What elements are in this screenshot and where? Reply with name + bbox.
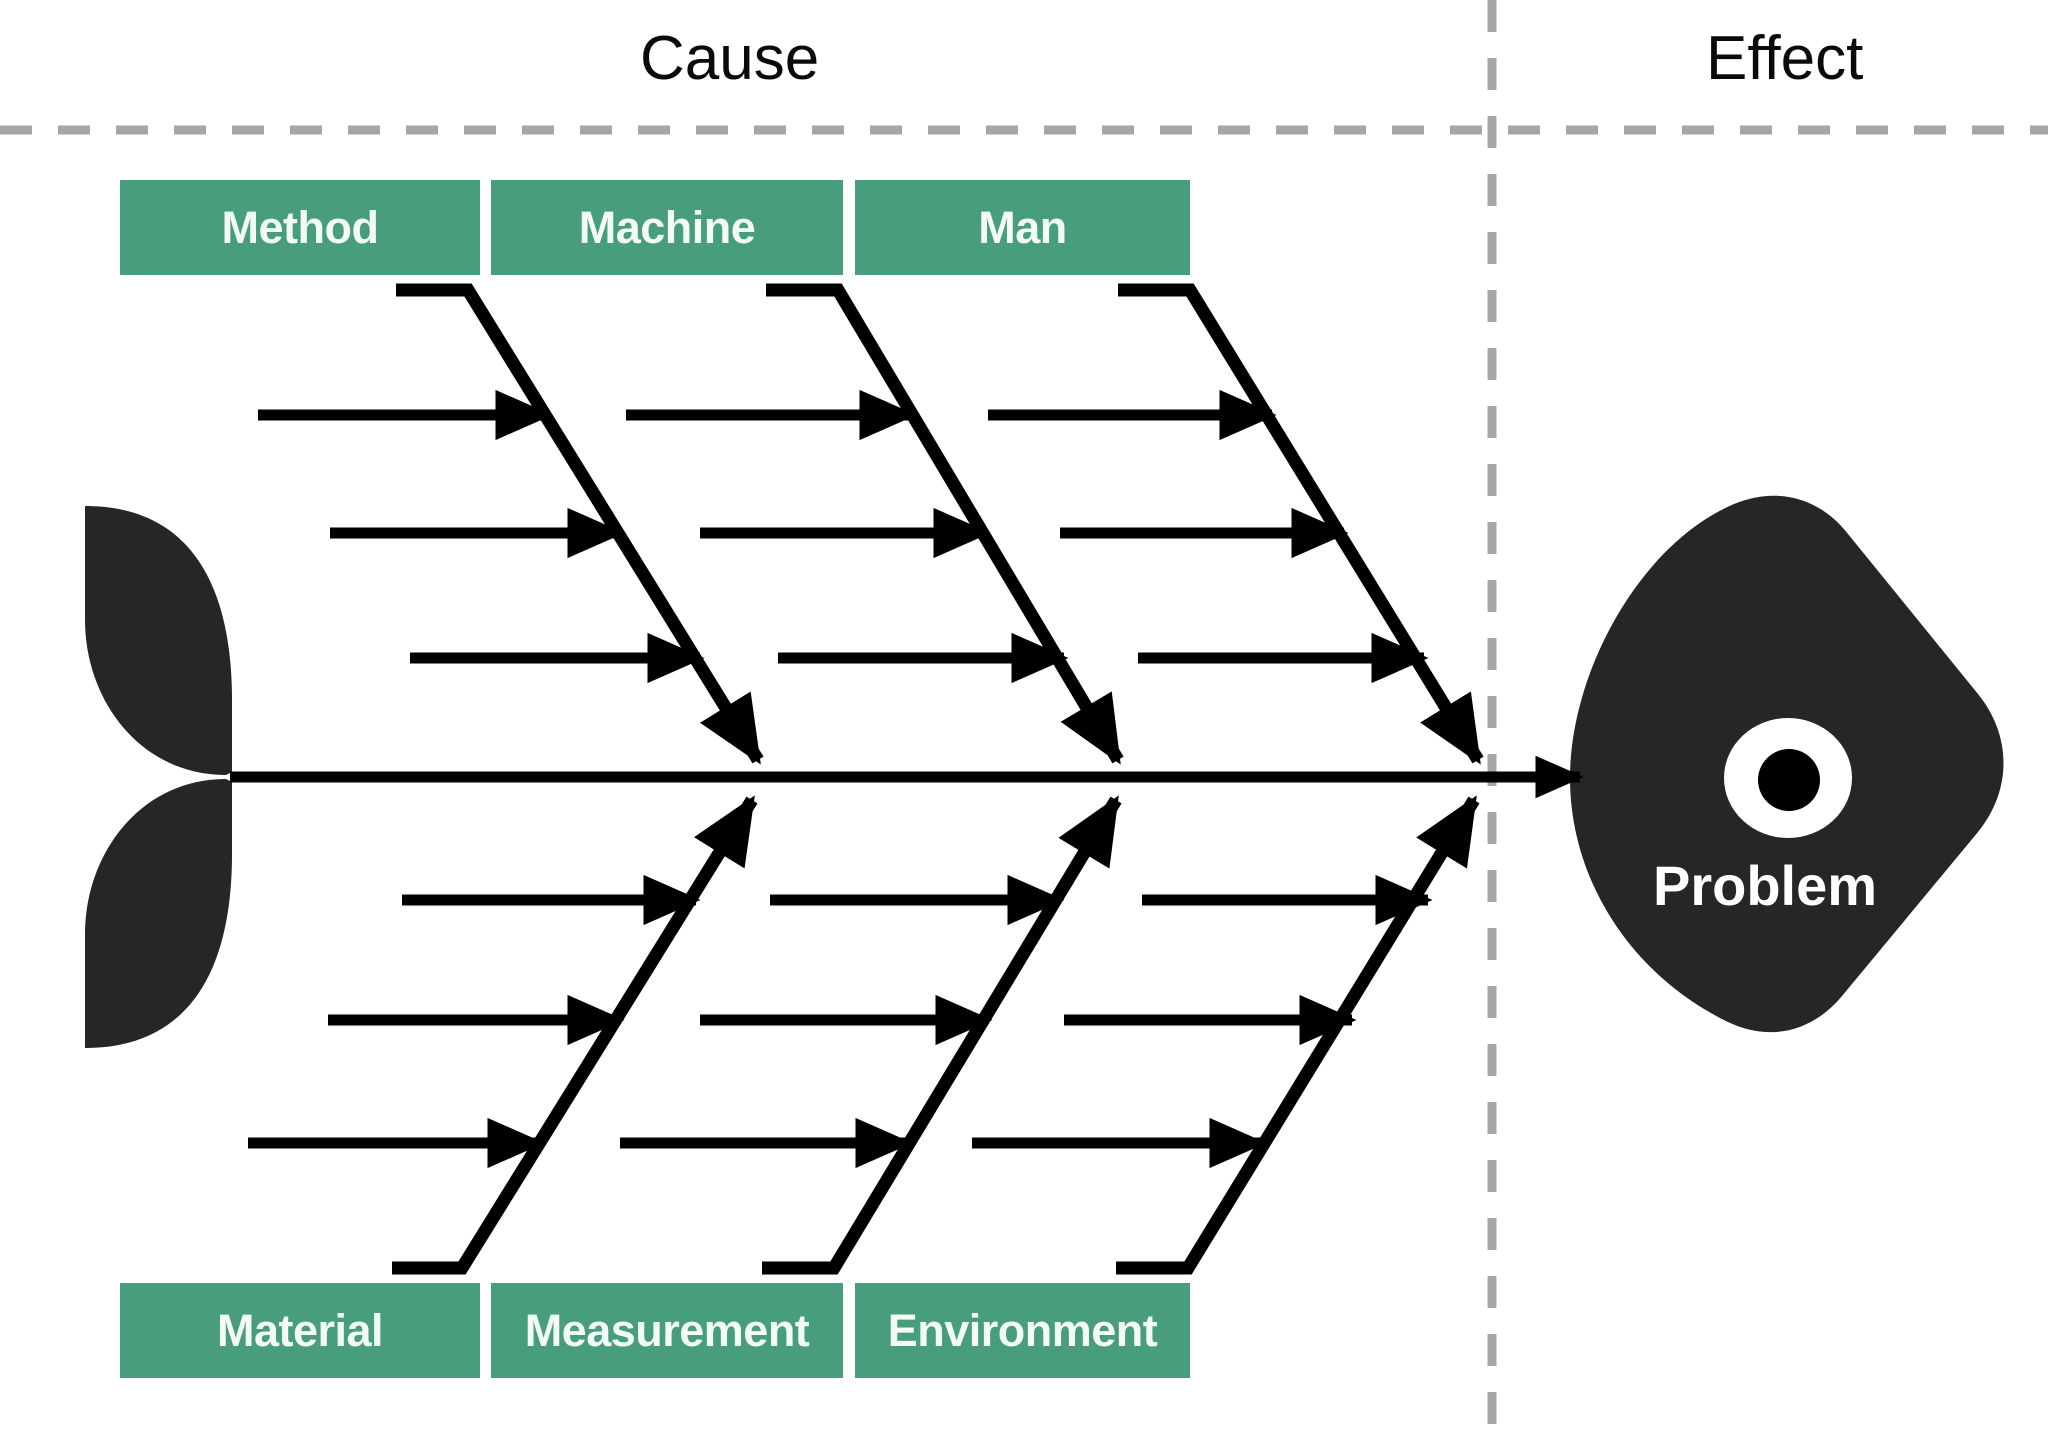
category-box-method[interactable]: Method	[120, 180, 480, 275]
category-label-environment: Environment	[888, 1308, 1158, 1353]
category-box-material[interactable]: Material	[120, 1283, 480, 1378]
fish-head-icon	[1570, 496, 2004, 1032]
category-label-machine: Machine	[579, 205, 756, 250]
fishbone-diagram-canvas: Cause Effect Method Machine Man Material…	[0, 0, 2048, 1433]
fish-tail-icon	[85, 506, 232, 1048]
bone-machine	[626, 290, 1118, 760]
category-box-machine[interactable]: Machine	[491, 180, 843, 275]
section-label-cause: Cause	[640, 28, 819, 90]
bone-man	[988, 290, 1478, 760]
bone-material	[248, 800, 752, 1268]
effect-problem-label: Problem	[1600, 858, 1930, 914]
section-label-effect: Effect	[1706, 28, 1863, 90]
bone-environment	[972, 800, 1474, 1268]
category-label-material: Material	[217, 1308, 383, 1353]
fish-eye-pupil	[1758, 749, 1820, 811]
category-label-measurement: Measurement	[525, 1308, 810, 1353]
bone-measurement	[620, 800, 1116, 1268]
category-label-man: Man	[978, 205, 1067, 250]
category-label-method: Method	[222, 205, 379, 250]
bone-method	[258, 290, 758, 760]
category-box-environment[interactable]: Environment	[855, 1283, 1190, 1378]
category-box-man[interactable]: Man	[855, 180, 1190, 275]
category-box-measurement[interactable]: Measurement	[491, 1283, 843, 1378]
